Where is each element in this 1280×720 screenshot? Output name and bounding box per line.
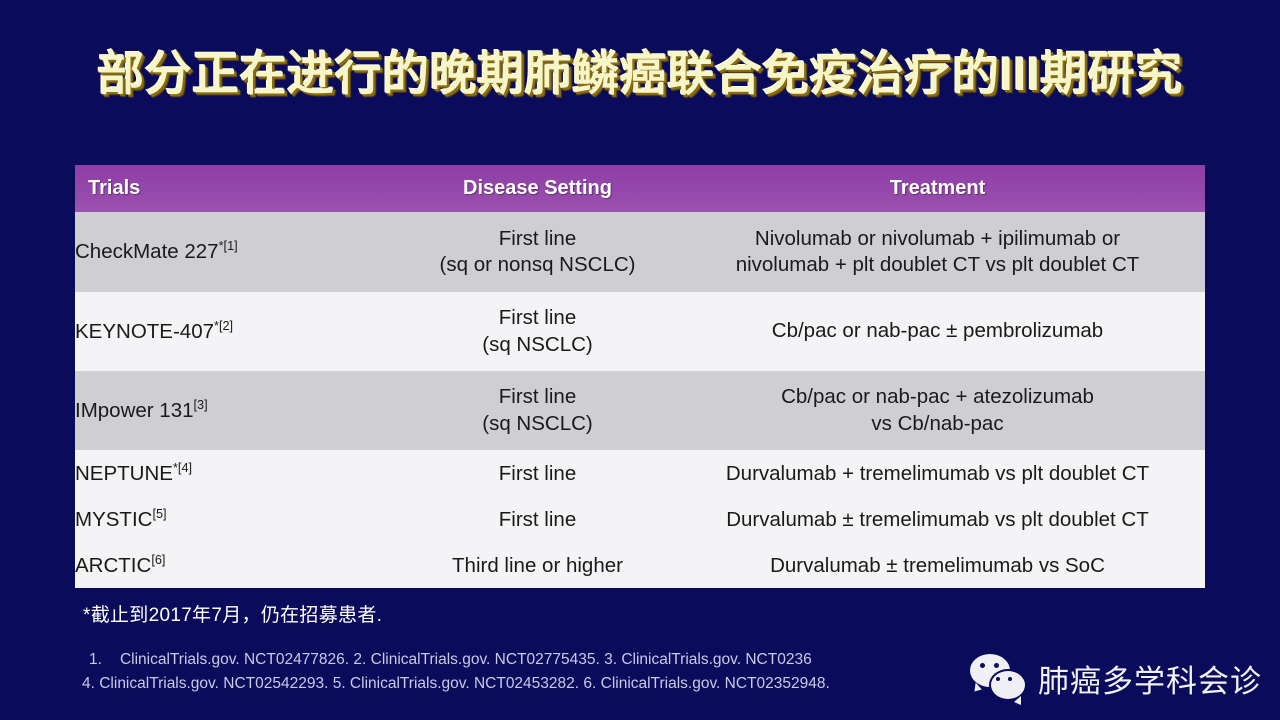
cell-trial: ARCTIC[6]: [75, 543, 405, 588]
trial-superscript: [5]: [152, 506, 166, 521]
trial-name: IMpower 131: [75, 399, 194, 422]
trials-table: Trials Disease Setting Treatment CheckMa…: [75, 165, 1205, 588]
table-body: CheckMate 227*[1] First line (sq or nons…: [75, 212, 1205, 588]
cell-treatment: Durvalumab ± tremelimumab vs SoC: [670, 543, 1205, 588]
cell-trial: MYSTIC[5]: [75, 497, 405, 543]
watermark: 肺癌多学科会诊: [970, 654, 1262, 702]
cell-trial: KEYNOTE-407*[2]: [75, 292, 405, 371]
reference-text-1: ClinicalTrials.gov. NCT02477826. 2. Clin…: [120, 651, 812, 668]
table-row: CheckMate 227*[1] First line (sq or nons…: [75, 212, 1205, 292]
references-block: 1.ClinicalTrials.gov. NCT02477826. 2. Cl…: [82, 648, 1082, 696]
setting-line-1: First line: [405, 384, 670, 410]
column-header-trials: Trials: [75, 165, 405, 212]
cell-trial: CheckMate 227*[1]: [75, 212, 405, 292]
trial-superscript: [3]: [194, 397, 208, 412]
treatment-line-1: Cb/pac or nab-pac + atezolizumab: [670, 384, 1205, 410]
cell-disease-setting: First line: [405, 497, 670, 543]
footnote-text: *截止到2017年7月，仍在招募患者.: [83, 600, 382, 627]
cell-disease-setting: First line (sq NSCLC): [405, 292, 670, 371]
wechat-icon: [970, 654, 1028, 702]
setting-line-1: First line: [405, 226, 670, 252]
cell-trial: IMpower 131[3]: [75, 371, 405, 450]
cell-treatment: Durvalumab ± tremelimumab vs plt doublet…: [670, 497, 1205, 543]
table-header: Trials Disease Setting Treatment: [75, 165, 1205, 212]
cell-treatment: Nivolumab or nivolumab + ipilimumab or n…: [670, 212, 1205, 292]
treatment-line-1: Cb/pac or nab-pac ± pembrolizumab: [670, 318, 1205, 344]
table-row: IMpower 131[3] First line (sq NSCLC) Cb/…: [75, 371, 1205, 450]
trial-name: KEYNOTE-407: [75, 320, 214, 343]
trial-superscript: *[2]: [214, 318, 233, 333]
cell-disease-setting: First line: [405, 450, 670, 497]
cell-disease-setting: First line (sq or nonsq NSCLC): [405, 212, 670, 292]
setting-line-1: First line: [405, 305, 670, 331]
reference-line-2: 4. ClinicalTrials.gov. NCT02542293. 5. C…: [82, 672, 1082, 696]
column-header-treatment: Treatment: [670, 165, 1205, 212]
reference-number: 1.: [89, 651, 102, 668]
trial-superscript: *[1]: [219, 238, 238, 253]
cell-disease-setting: First line (sq NSCLC): [405, 371, 670, 450]
trial-name: ARCTIC: [75, 554, 151, 577]
treatment-line-2: vs Cb/nab-pac: [670, 411, 1205, 437]
table-row: KEYNOTE-407*[2] First line (sq NSCLC) Cb…: [75, 292, 1205, 371]
treatment-line-1: Nivolumab or nivolumab + ipilimumab or: [670, 226, 1205, 252]
cell-disease-setting: Third line or higher: [405, 543, 670, 588]
page-title: 部分正在进行的晚期肺鳞癌联合免疫治疗的III期研究: [0, 48, 1280, 100]
trial-name: CheckMate 227: [75, 240, 219, 263]
column-header-disease-setting: Disease Setting: [405, 165, 670, 212]
table-row: MYSTIC[5] First line Durvalumab ± tremel…: [75, 497, 1205, 543]
cell-treatment: Cb/pac or nab-pac ± pembrolizumab: [670, 292, 1205, 371]
reference-line-1: 1.ClinicalTrials.gov. NCT02477826. 2. Cl…: [82, 648, 1082, 672]
trial-superscript: *[4]: [173, 460, 192, 475]
trial-superscript: [6]: [151, 552, 165, 567]
table-header-row: Trials Disease Setting Treatment: [75, 165, 1205, 212]
table-row: NEPTUNE*[4] First line Durvalumab + trem…: [75, 450, 1205, 497]
setting-line-2: (sq or nonsq NSCLC): [405, 252, 670, 278]
trial-name: MYSTIC: [75, 508, 152, 531]
watermark-label: 肺癌多学科会诊: [1038, 656, 1262, 701]
trials-table-container: Trials Disease Setting Treatment CheckMa…: [75, 165, 1205, 588]
cell-treatment: Cb/pac or nab-pac + atezolizumab vs Cb/n…: [670, 371, 1205, 450]
table-row: ARCTIC[6] Third line or higher Durvaluma…: [75, 543, 1205, 588]
treatment-line-2: nivolumab + plt doublet CT vs plt double…: [670, 252, 1205, 278]
cell-treatment: Durvalumab + tremelimumab vs plt doublet…: [670, 450, 1205, 497]
setting-line-2: (sq NSCLC): [405, 411, 670, 437]
trial-name: NEPTUNE: [75, 462, 173, 485]
cell-trial: NEPTUNE*[4]: [75, 450, 405, 497]
setting-line-2: (sq NSCLC): [405, 332, 670, 358]
